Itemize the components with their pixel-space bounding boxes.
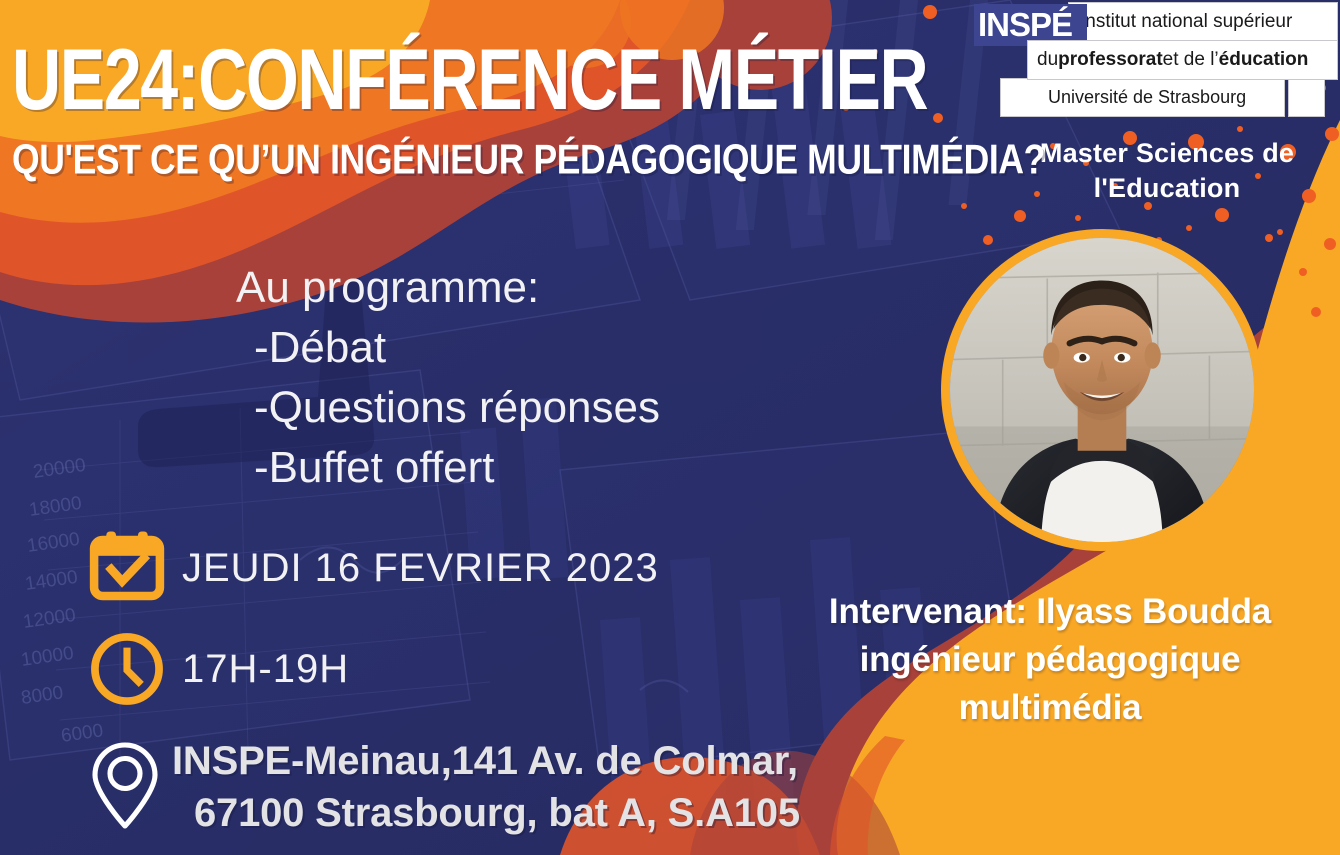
page-title: UE24:CONFÉRENCE MÉTIER bbox=[12, 37, 868, 123]
date-row: JEUDI 16 FEVRIER 2023 bbox=[86, 527, 659, 609]
logo-line2-bold2: éducation bbox=[1219, 49, 1309, 71]
address-line-2: 67100 Strasbourg, bat A, S.A105 bbox=[172, 787, 800, 839]
conference-poster: 100000 0 20000 18000 16000 14000 12000 1… bbox=[0, 0, 1340, 855]
speaker-role-line-2: multimédia bbox=[760, 684, 1340, 732]
logo-line-universite: Université de Strasbourg bbox=[1000, 78, 1285, 117]
page-subtitle: QU'EST CE QU’UN INGÉNIEUR PÉDAGOGIQUE MU… bbox=[12, 139, 982, 180]
logo-accent-box bbox=[1288, 78, 1325, 117]
programme-item-debat: -Débat bbox=[236, 318, 660, 378]
programme-block: Au programme: -Débat -Questions réponses… bbox=[236, 258, 660, 498]
logo-line2-bold1: professorat bbox=[1058, 49, 1163, 71]
programme-heading: Au programme: bbox=[236, 258, 660, 318]
programme-item-questions: -Questions réponses bbox=[236, 378, 660, 438]
logo-line3-text: Université de Strasbourg bbox=[1048, 87, 1246, 108]
event-address: INSPE-Meinau,141 Av. de Colmar, 67100 St… bbox=[172, 735, 800, 839]
calendar-check-icon bbox=[86, 527, 168, 609]
logo-line-institut: Institut national supérieur bbox=[1068, 2, 1338, 42]
logo-line1-text: Institut national supérieur bbox=[1080, 11, 1292, 33]
location-pin-icon bbox=[86, 735, 164, 839]
logo-line2-mid: et de l’ bbox=[1163, 49, 1219, 71]
logo-wordmark: INSPÉ bbox=[978, 6, 1072, 44]
speaker-photo bbox=[941, 229, 1263, 551]
address-line-1: INSPE-Meinau,141 Av. de Colmar, bbox=[172, 735, 800, 787]
logo-line-professorat: du professorat et de l’éducation bbox=[1027, 40, 1338, 80]
event-date: JEUDI 16 FEVRIER 2023 bbox=[182, 546, 659, 591]
programme-item-buffet: -Buffet offert bbox=[236, 438, 660, 498]
logo-line2-pre: du bbox=[1037, 49, 1058, 71]
event-time: 17H-19H bbox=[182, 647, 349, 692]
location-row: INSPE-Meinau,141 Av. de Colmar, 67100 St… bbox=[86, 735, 800, 839]
speaker-name-line: Intervenant: Ilyass Boudda bbox=[760, 588, 1340, 636]
speaker-role-line-1: ingénieur pédagogique bbox=[760, 636, 1340, 684]
speaker-caption: Intervenant: Ilyass Boudda ingénieur péd… bbox=[760, 588, 1340, 732]
master-program-label: Master Sciences de l'Education bbox=[1002, 136, 1332, 206]
clock-icon bbox=[86, 628, 168, 710]
time-row: 17H-19H bbox=[86, 628, 349, 710]
inspe-logo: INSPÉ Institut national supérieur du pro… bbox=[974, 2, 1338, 120]
